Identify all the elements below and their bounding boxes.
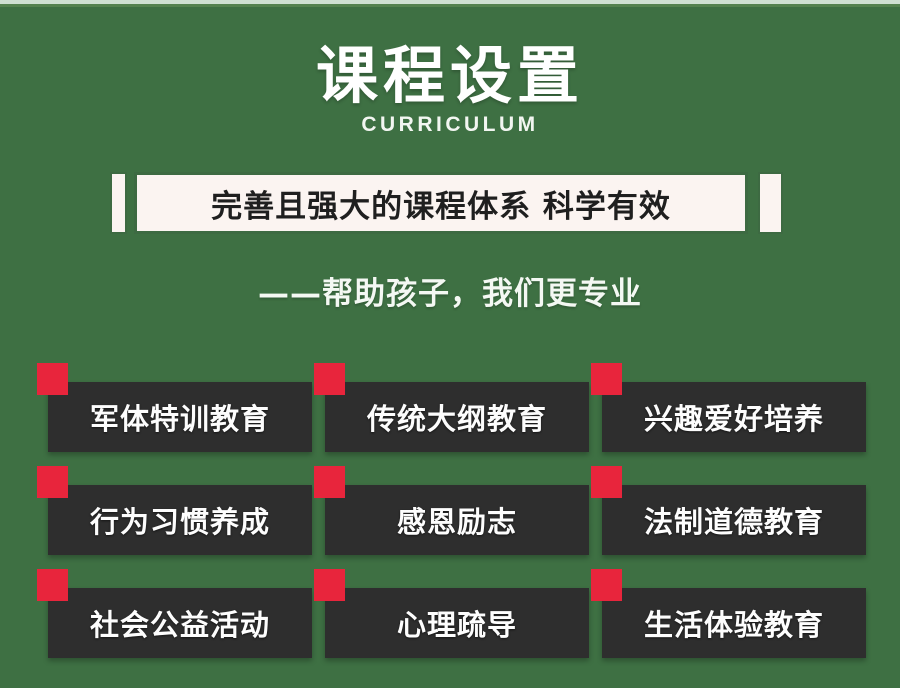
course-card[interactable]: 法制道德教育 [582,458,866,560]
top-edge-strip-shadow [0,4,900,7]
red-square-icon [591,363,622,395]
poster-header: 课程设置 CURRICULUM [0,44,900,137]
course-card[interactable]: 兴趣爱好培养 [582,355,866,457]
banner-tick-right [758,172,783,234]
course-card[interactable]: 心理疏导 [305,561,589,663]
course-card-box[interactable]: 生活体验教育 [602,588,866,658]
course-card-box[interactable]: 军体特训教育 [48,382,312,452]
curriculum-poster: 课程设置 CURRICULUM 完善且强大的课程体系 科学有效 ——帮助孩子，我… [0,0,900,688]
red-square-icon [37,363,68,395]
course-card-label: 军体特训教育 [90,396,270,438]
banner-tick-left [110,172,127,234]
course-card[interactable]: 社会公益活动 [28,561,312,663]
page-subtitle: CURRICULUM [0,113,900,137]
course-card[interactable]: 生活体验教育 [582,561,866,663]
red-square-icon [37,569,68,601]
banner: 完善且强大的课程体系 科学有效 [110,172,790,234]
red-square-icon [37,466,68,498]
course-card-label: 感恩励志 [397,499,517,541]
course-card-box[interactable]: 心理疏导 [325,588,589,658]
course-card-label: 行为习惯养成 [90,499,270,541]
banner-box: 完善且强大的课程体系 科学有效 [134,172,748,234]
course-card-box[interactable]: 法制道德教育 [602,485,866,555]
banner-text: 完善且强大的课程体系 科学有效 [211,181,671,226]
course-card[interactable]: 军体特训教育 [28,355,312,457]
page-title: 课程设置 [0,44,900,107]
course-card-label: 社会公益活动 [90,602,270,644]
course-card-label: 兴趣爱好培养 [644,396,824,438]
course-card[interactable]: 行为习惯养成 [28,458,312,560]
red-square-icon [591,569,622,601]
course-card-box[interactable]: 行为习惯养成 [48,485,312,555]
course-card-grid: 军体特训教育 传统大纲教育 兴趣爱好培养 行为习惯养成 感恩励志 [0,355,900,665]
course-card-label: 法制道德教育 [644,499,824,541]
course-card-box[interactable]: 兴趣爱好培养 [602,382,866,452]
red-square-icon [591,466,622,498]
course-card[interactable]: 感恩励志 [305,458,589,560]
red-square-icon [314,363,345,395]
course-card-box[interactable]: 感恩励志 [325,485,589,555]
red-square-icon [314,569,345,601]
course-card-label: 生活体验教育 [644,602,824,644]
tagline: ——帮助孩子，我们更专业 [0,268,900,313]
course-card-label: 传统大纲教育 [367,396,547,438]
red-square-icon [314,466,345,498]
course-card-label: 心理疏导 [397,602,517,644]
course-card-box[interactable]: 社会公益活动 [48,588,312,658]
course-card-box[interactable]: 传统大纲教育 [325,382,589,452]
course-card[interactable]: 传统大纲教育 [305,355,589,457]
